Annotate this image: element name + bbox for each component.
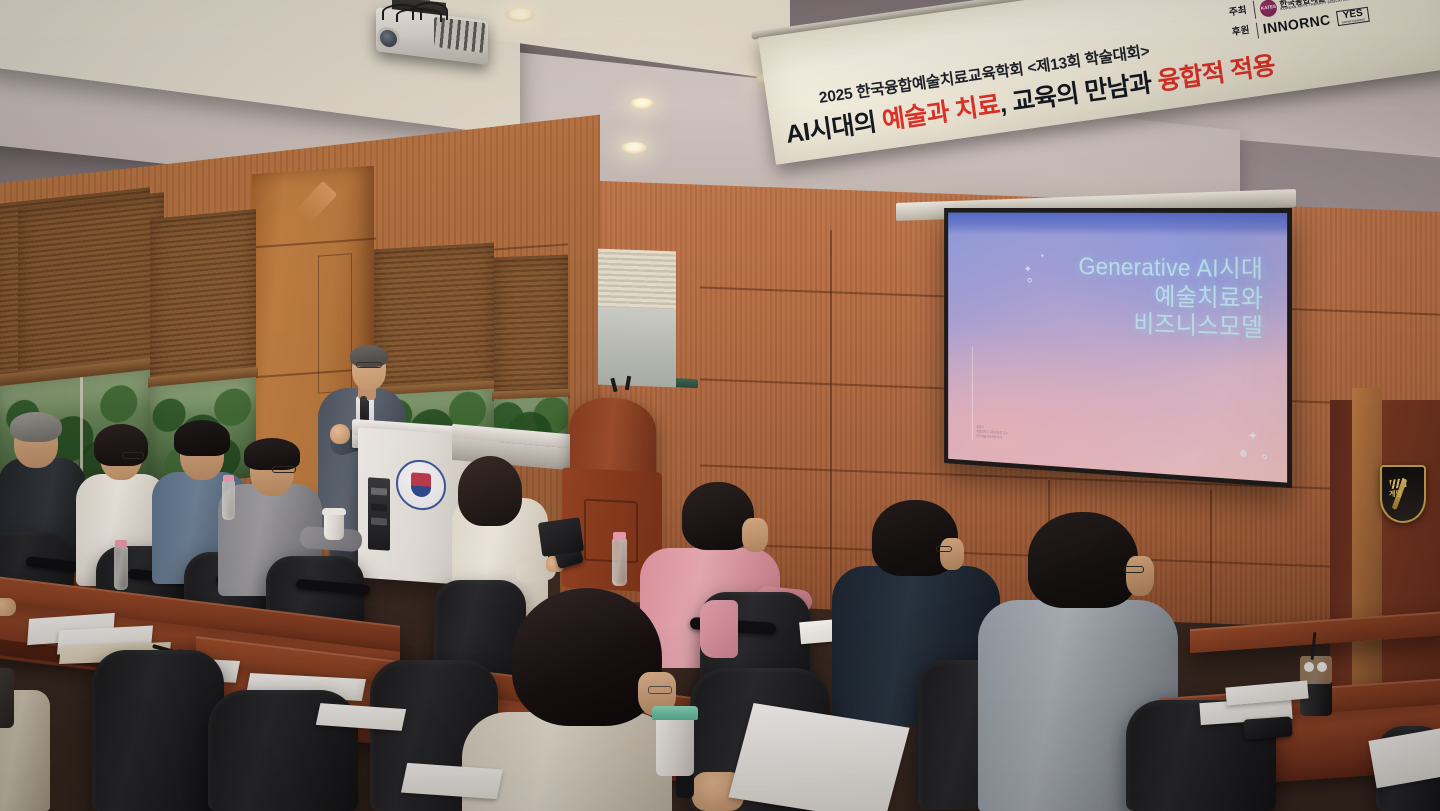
downlight — [505, 8, 535, 22]
right-wall-trim — [1352, 388, 1382, 688]
slide-title: Generative AI시대 예술치료와 비즈니스모델 — [1010, 253, 1264, 344]
handheld-microphone-icon — [360, 396, 367, 422]
divider — [1256, 22, 1259, 38]
pink-chair-fabric — [700, 600, 738, 658]
yes-logo-sub: ENTERTAINMENT — [1342, 18, 1366, 24]
kates-logo-icon: KATES — [1259, 0, 1278, 17]
attendee-head — [1126, 556, 1154, 596]
cup-lid — [322, 508, 346, 515]
dot-icon — [1240, 450, 1247, 457]
water-bottle[interactable] — [114, 546, 128, 590]
panel-seam — [1210, 490, 1212, 640]
sponsor-logo-yes: YES ENTERTAINMENT — [1336, 7, 1370, 26]
glasses-icon — [1124, 566, 1144, 573]
presenter-hand-left — [330, 424, 350, 444]
slide-top-band — [948, 213, 1287, 238]
slide-credit-block: 발표자 계명대학교 교육대학원 교수 한국예술치료학회 이사 — [976, 425, 1008, 440]
attendee-hair — [1028, 512, 1138, 608]
projection-screen: ✦ ✦ ✦ Generative AI시대 예술치료와 비즈니스모델 발표자 계… — [944, 208, 1292, 488]
wooden-chair-panel — [584, 499, 638, 564]
crest-label-left: 계명 — [1389, 489, 1402, 499]
paper-coffee-cup[interactable] — [656, 714, 694, 776]
glasses-icon — [122, 452, 144, 459]
tumbler-sticker-icon — [1317, 662, 1327, 672]
panel-seam — [830, 230, 832, 620]
info-label-host: 주최 — [1229, 5, 1255, 18]
attendee-head — [940, 538, 964, 570]
university-crest-icon: 계명 — [1380, 465, 1426, 523]
ring-icon — [1262, 454, 1267, 459]
bottle-cap — [223, 475, 234, 482]
info-label-sponsor: 후원 — [1231, 25, 1257, 38]
paper-coffee-cup[interactable] — [324, 512, 344, 540]
glasses-icon — [356, 362, 382, 368]
slide-image: ✦ ✦ ✦ Generative AI시대 예술치료와 비즈니스모델 발표자 계… — [948, 213, 1287, 483]
glasses-icon — [648, 686, 672, 694]
banner-title-part-1: AI시대의 — [784, 107, 884, 148]
sparkle-icon: ✦ — [1248, 429, 1258, 443]
right-wall-dark-wood — [1330, 400, 1440, 700]
attendee-hair — [94, 424, 148, 466]
water-bottle[interactable] — [222, 480, 235, 520]
slide-vertical-rule — [972, 346, 973, 440]
bottle-cap — [115, 540, 127, 548]
attendee-hair — [10, 412, 62, 442]
pillar-diamond-inlay — [295, 181, 338, 225]
attendee-bag-strap — [0, 668, 14, 728]
window-blind-center[interactable] — [374, 243, 494, 396]
downlight — [630, 98, 654, 109]
window-blind-left[interactable] — [18, 192, 164, 384]
banner-title-part-2: 예술과 치료 — [880, 91, 1001, 135]
glasses-icon — [936, 546, 952, 552]
attendee-hand — [0, 598, 16, 616]
frosted-glass-panel — [598, 307, 676, 388]
smartphone[interactable] — [1243, 716, 1292, 739]
office-chair[interactable] — [92, 650, 224, 811]
projector-vent — [434, 17, 486, 53]
banner-info-block: 일시 2025년 5월 24일(토) 15:00 장소 계명대학교 성서캠퍼스 … — [1224, 0, 1440, 45]
water-bottle[interactable] — [612, 538, 627, 586]
bottle-cap — [613, 532, 626, 540]
window-blind-left-2[interactable] — [150, 209, 256, 387]
divider — [1253, 1, 1257, 19]
lectern-control-panel[interactable] — [368, 477, 390, 551]
white-roller-blind[interactable] — [598, 249, 676, 312]
window-blind-center-2[interactable] — [494, 255, 568, 398]
laptop-or-tablet[interactable] — [538, 517, 584, 557]
slide-title-line-3: 비즈니스모델 — [1010, 307, 1264, 343]
downlight — [621, 142, 647, 154]
attendee-head — [742, 518, 768, 552]
attendee-hair — [174, 420, 230, 456]
conference-photo-scene: 계명 2025 한국융합예술치료교육학회 <제13회 학술대회> AI시대의 예… — [0, 0, 1440, 811]
cup-lid — [652, 706, 698, 720]
tumbler-sticker-icon — [1304, 662, 1314, 672]
glasses-icon — [272, 466, 296, 473]
projector-cable — [412, 2, 448, 20]
banner-title-part-4: 융합적 적용 — [1156, 52, 1277, 96]
attendee-hair — [458, 456, 522, 526]
